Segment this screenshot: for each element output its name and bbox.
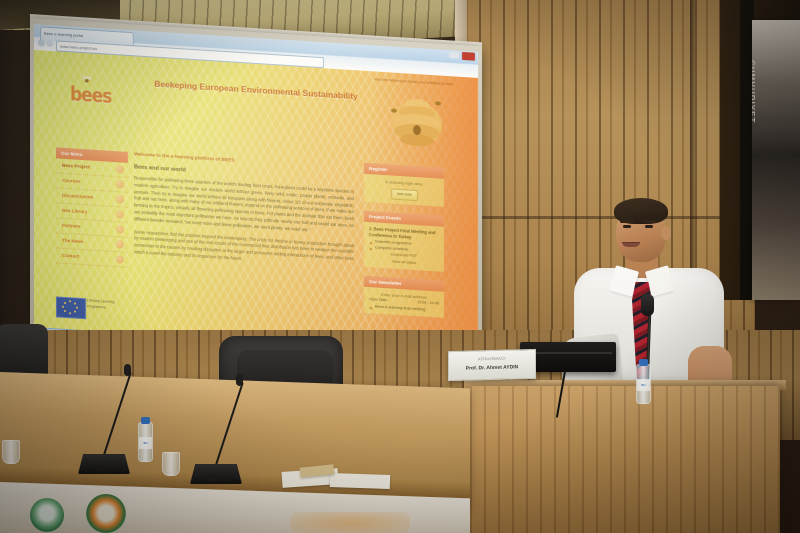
site-main-content: Welcome to the e-learning platform of BE… xyxy=(134,152,354,270)
bottle-brand: SU xyxy=(637,379,650,391)
speaker-eye-left xyxy=(623,225,631,228)
mic-capsule xyxy=(124,364,131,376)
panel-register: Register E-learning login area Join now xyxy=(364,163,444,207)
close-icon[interactable] xyxy=(462,52,475,61)
institution-seal-green xyxy=(30,498,64,532)
water-bottle-icon: SU xyxy=(636,364,651,404)
speaker-eyebrow-right xyxy=(642,220,656,223)
hive-caption: Find the hidden pots inside your website… xyxy=(368,77,460,88)
eu-programme-block: Lifelong Learning Programme xyxy=(56,294,132,323)
eu-programme-label: Lifelong Learning Programme xyxy=(87,298,132,313)
drinking-glass-icon xyxy=(2,440,20,464)
panel-newsletter: Our Newsletter Enter your e-mail address… xyxy=(364,276,444,318)
papers-icon xyxy=(330,473,390,489)
site-right-rail: Register E-learning login area Join now … xyxy=(364,163,444,327)
nav-label: Bees Project xyxy=(62,163,90,170)
site-logo[interactable]: bees xyxy=(70,83,111,109)
bottle-cap xyxy=(141,417,150,424)
honeycomb-bullet-icon xyxy=(116,240,124,249)
name-placard: KONUSMACI Prof. Dr. Ahmet AYDIN xyxy=(448,349,536,381)
forward-arrow-icon[interactable] xyxy=(46,40,53,47)
panel-newsletter-body: Enter your e-mail address Open Date 12.0… xyxy=(364,287,444,318)
minimize-icon[interactable] xyxy=(449,52,459,59)
water-bottle-icon: SU xyxy=(138,422,153,462)
mic-switch[interactable] xyxy=(96,466,106,471)
eu-flag-icon xyxy=(56,296,86,319)
drinking-glass-icon xyxy=(162,452,180,476)
speaker-eyebrow-left xyxy=(620,220,634,223)
mic-capsule xyxy=(236,374,243,386)
laptop-screen-edge xyxy=(524,352,612,354)
nav-label: Courses xyxy=(62,178,80,184)
banner-honeycomb-graphic xyxy=(290,512,410,533)
speaker-mouth xyxy=(622,242,640,247)
honeycomb-bullet-icon xyxy=(116,210,124,219)
content-paragraph: Responsible for pollinating three quarte… xyxy=(134,175,354,236)
honeycomb-bullet-icon xyxy=(116,225,124,234)
bottle-label: SU xyxy=(637,379,650,391)
honeycomb-bullet-icon xyxy=(116,180,124,189)
speaker-person xyxy=(560,196,760,406)
mic-switch[interactable] xyxy=(208,476,218,481)
podium: HB xyxy=(470,386,780,533)
panel-project-events: Project Events 2. Bees Project Final Mee… xyxy=(364,210,444,271)
speaker-eye-right xyxy=(645,225,653,228)
honeycomb-bullet-icon xyxy=(116,255,124,264)
placard-name: Prof. Dr. Ahmet AYDIN xyxy=(449,364,535,372)
nav-label: Contact xyxy=(62,253,79,259)
honeycomb-bullet-icon xyxy=(116,165,124,174)
content-quote: Some researchers find the problem beyond… xyxy=(134,229,354,270)
microphone-icon xyxy=(641,294,654,316)
nav-item-contact[interactable]: Contact xyxy=(56,248,128,268)
panel-events-body: 2. Bees Project Final Meeting and Confer… xyxy=(364,221,444,271)
panel-register-body: E-learning login area Join now xyxy=(364,174,444,207)
bottle-cap xyxy=(639,359,648,366)
nav-label: Partners xyxy=(62,223,81,229)
join-now-button[interactable]: Join now xyxy=(391,189,418,201)
nav-label: The News xyxy=(62,238,83,244)
site-title: Beekeping European Environmental Sustain… xyxy=(152,77,360,102)
back-arrow-icon[interactable] xyxy=(38,39,45,46)
website-body: bees Beekeping European Environmental Su… xyxy=(34,50,478,356)
nav-label: Bee Library xyxy=(62,208,87,215)
photo-scene: CUMHURIYET Bees e-learning portal www.be… xyxy=(0,0,800,533)
site-nav: Our Menu Bees Project Courses Disseminat… xyxy=(56,147,128,268)
placard-role: KONUSMACI xyxy=(449,355,535,362)
bottle-brand: SU xyxy=(139,437,152,449)
poster-text: CUMHURIYET xyxy=(752,60,756,210)
projected-screen: Bees e-learning portal www.bees-project.… xyxy=(34,24,478,370)
institution-seal-orange xyxy=(86,494,126,533)
mic-base xyxy=(190,464,242,484)
nav-label: Dissemination xyxy=(62,193,93,200)
speaker-ear xyxy=(661,226,671,240)
mic-base xyxy=(78,454,130,474)
beehive-icon xyxy=(386,88,448,150)
bottle-label: SU xyxy=(139,437,152,449)
honeycomb-bullet-icon xyxy=(116,195,124,204)
